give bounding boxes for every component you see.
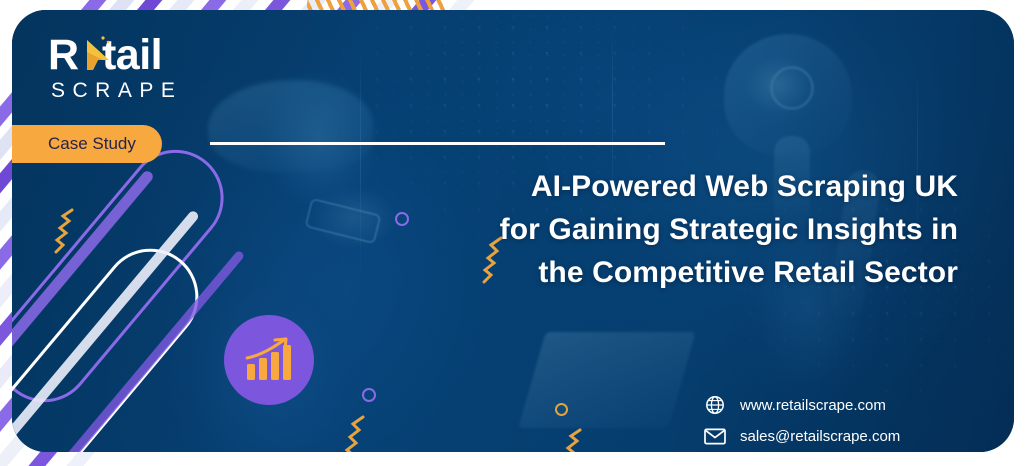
logo-letter-r: R: [48, 31, 79, 79]
bar-chart-growth-icon: [244, 337, 294, 383]
ring-decoration: [395, 212, 409, 226]
email-address: sales@retailscrape.com: [740, 428, 900, 445]
globe-icon: [704, 394, 726, 416]
squiggle-decoration: [52, 208, 98, 256]
squiggle-decoration: [342, 414, 390, 452]
headline-line-2: for Gaining Strategic Insights in: [488, 208, 958, 251]
headline-line-3: the Competitive Retail Sector: [488, 251, 958, 294]
squiggle-decoration: [560, 428, 604, 452]
case-study-banner: Retail SCRAPE Case Study AI-Powered Web …: [0, 0, 1026, 466]
ring-decoration: [362, 388, 376, 402]
case-study-badge[interactable]: Case Study: [12, 125, 162, 163]
logo-wordmark-secondary: SCRAPE: [48, 79, 182, 103]
website-url: www.retailscrape.com: [740, 397, 886, 414]
banner-card: Retail SCRAPE Case Study AI-Powered Web …: [12, 10, 1014, 452]
contact-row-website[interactable]: www.retailscrape.com: [704, 394, 900, 416]
envelope-icon: [704, 425, 726, 447]
growth-chart-badge: [224, 315, 314, 405]
headline-line-1: AI-Powered Web Scraping UK: [488, 165, 958, 208]
cursor-arrow-icon: [81, 36, 115, 74]
headline: AI-Powered Web Scraping UK for Gaining S…: [488, 165, 958, 294]
contact-row-email[interactable]: sales@retailscrape.com: [704, 425, 900, 447]
header-rule: [210, 142, 665, 145]
logo-wordmark-primary: Retail: [48, 32, 182, 78]
case-study-badge-label: Case Study: [48, 134, 136, 154]
contact-block: www.retailscrape.com sales@retailscrape.…: [704, 394, 900, 452]
ring-decoration: [555, 403, 568, 416]
brand-logo[interactable]: Retail SCRAPE: [48, 32, 182, 103]
